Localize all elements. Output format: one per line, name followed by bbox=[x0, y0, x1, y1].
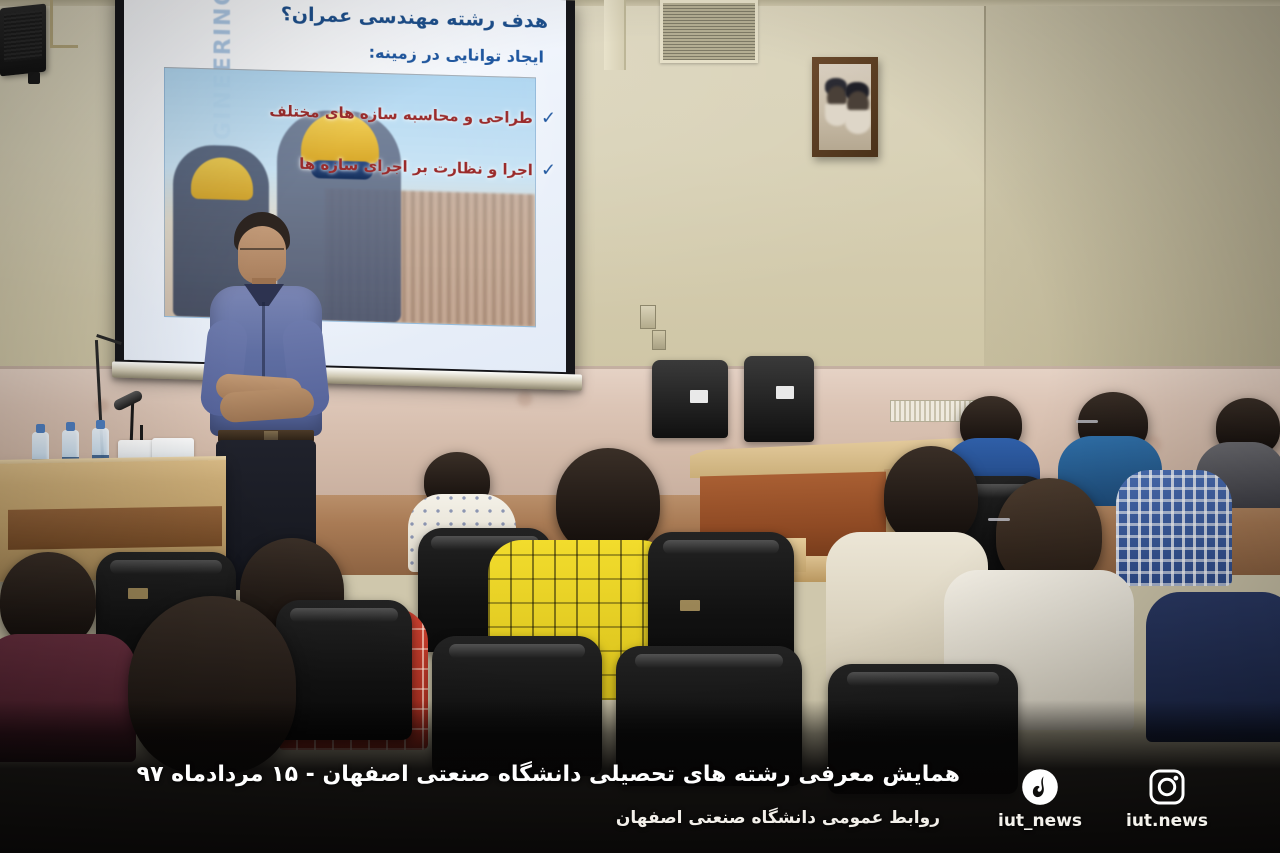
auditorium-seat bbox=[276, 600, 412, 740]
wall-speaker bbox=[0, 4, 46, 77]
slide-title: هدف رشته مهندسی عمران؟ bbox=[281, 2, 548, 35]
seat-number-tag bbox=[680, 600, 700, 611]
wall-outlet-box-lower bbox=[652, 330, 666, 350]
seat-sheen bbox=[110, 560, 222, 574]
speaker-bracket bbox=[28, 72, 40, 84]
audience-torso bbox=[0, 634, 136, 762]
audience-torso bbox=[1146, 592, 1280, 742]
audience-head bbox=[556, 448, 660, 554]
instagram-handle: iut.news bbox=[1126, 811, 1208, 831]
seat-sheen bbox=[449, 644, 585, 658]
wall-corner-line bbox=[984, 0, 986, 372]
seat-sheen bbox=[663, 540, 780, 554]
portrait-image bbox=[819, 64, 871, 150]
framed-portrait bbox=[812, 57, 878, 157]
instagram-icon bbox=[1148, 768, 1186, 806]
slide-subtitle: ایجاد توانایی در زمینه: bbox=[369, 43, 544, 67]
social-soroush[interactable]: iut_news bbox=[998, 768, 1082, 831]
eyeglasses-icon bbox=[1076, 420, 1098, 423]
seat-sheen bbox=[635, 654, 784, 668]
audience-head-foreground bbox=[128, 596, 296, 774]
caption-bar: همایش معرفی رشته های تحصیلی دانشگاه صنعت… bbox=[0, 752, 1280, 853]
photograph-canvas: CIVIL ENGINEERING هدف رشته مهندسی عمران؟… bbox=[0, 0, 1280, 853]
wall-conduit bbox=[50, 0, 53, 48]
seat-sheen bbox=[847, 672, 999, 686]
presenter-glasses bbox=[240, 248, 284, 256]
social-instagram[interactable]: iut.news bbox=[1126, 768, 1208, 831]
wrapped-chair bbox=[744, 356, 814, 442]
caption-subtitle: روابط عمومی دانشگاه صنعتی اصفهان bbox=[616, 808, 940, 828]
wall-outlet-box bbox=[640, 305, 656, 329]
wrapped-chair-label bbox=[776, 386, 794, 399]
soroush-icon bbox=[1021, 768, 1059, 806]
soroush-handle: iut_news bbox=[998, 811, 1082, 831]
check-icon: ✓ bbox=[541, 159, 556, 180]
projection-screen: CIVIL ENGINEERING هدف رشته مهندسی عمران؟… bbox=[124, 0, 566, 372]
caption-title: همایش معرفی رشته های تحصیلی دانشگاه صنعت… bbox=[137, 762, 960, 787]
seat-sheen bbox=[290, 608, 399, 622]
head-table-front-panel bbox=[8, 506, 222, 550]
wrapped-chair-label bbox=[690, 390, 708, 403]
audience-head bbox=[884, 446, 978, 544]
wall-right-shading bbox=[986, 0, 1280, 372]
seat-number-tag bbox=[128, 588, 148, 599]
ventilation-grille bbox=[660, 0, 758, 63]
wall-conduit-elbow bbox=[50, 45, 78, 48]
eyeglasses-icon bbox=[988, 518, 1010, 521]
audience-torso-plaid bbox=[1116, 470, 1232, 586]
check-icon: ✓ bbox=[541, 107, 556, 128]
wall-panel-edge bbox=[604, 0, 626, 70]
